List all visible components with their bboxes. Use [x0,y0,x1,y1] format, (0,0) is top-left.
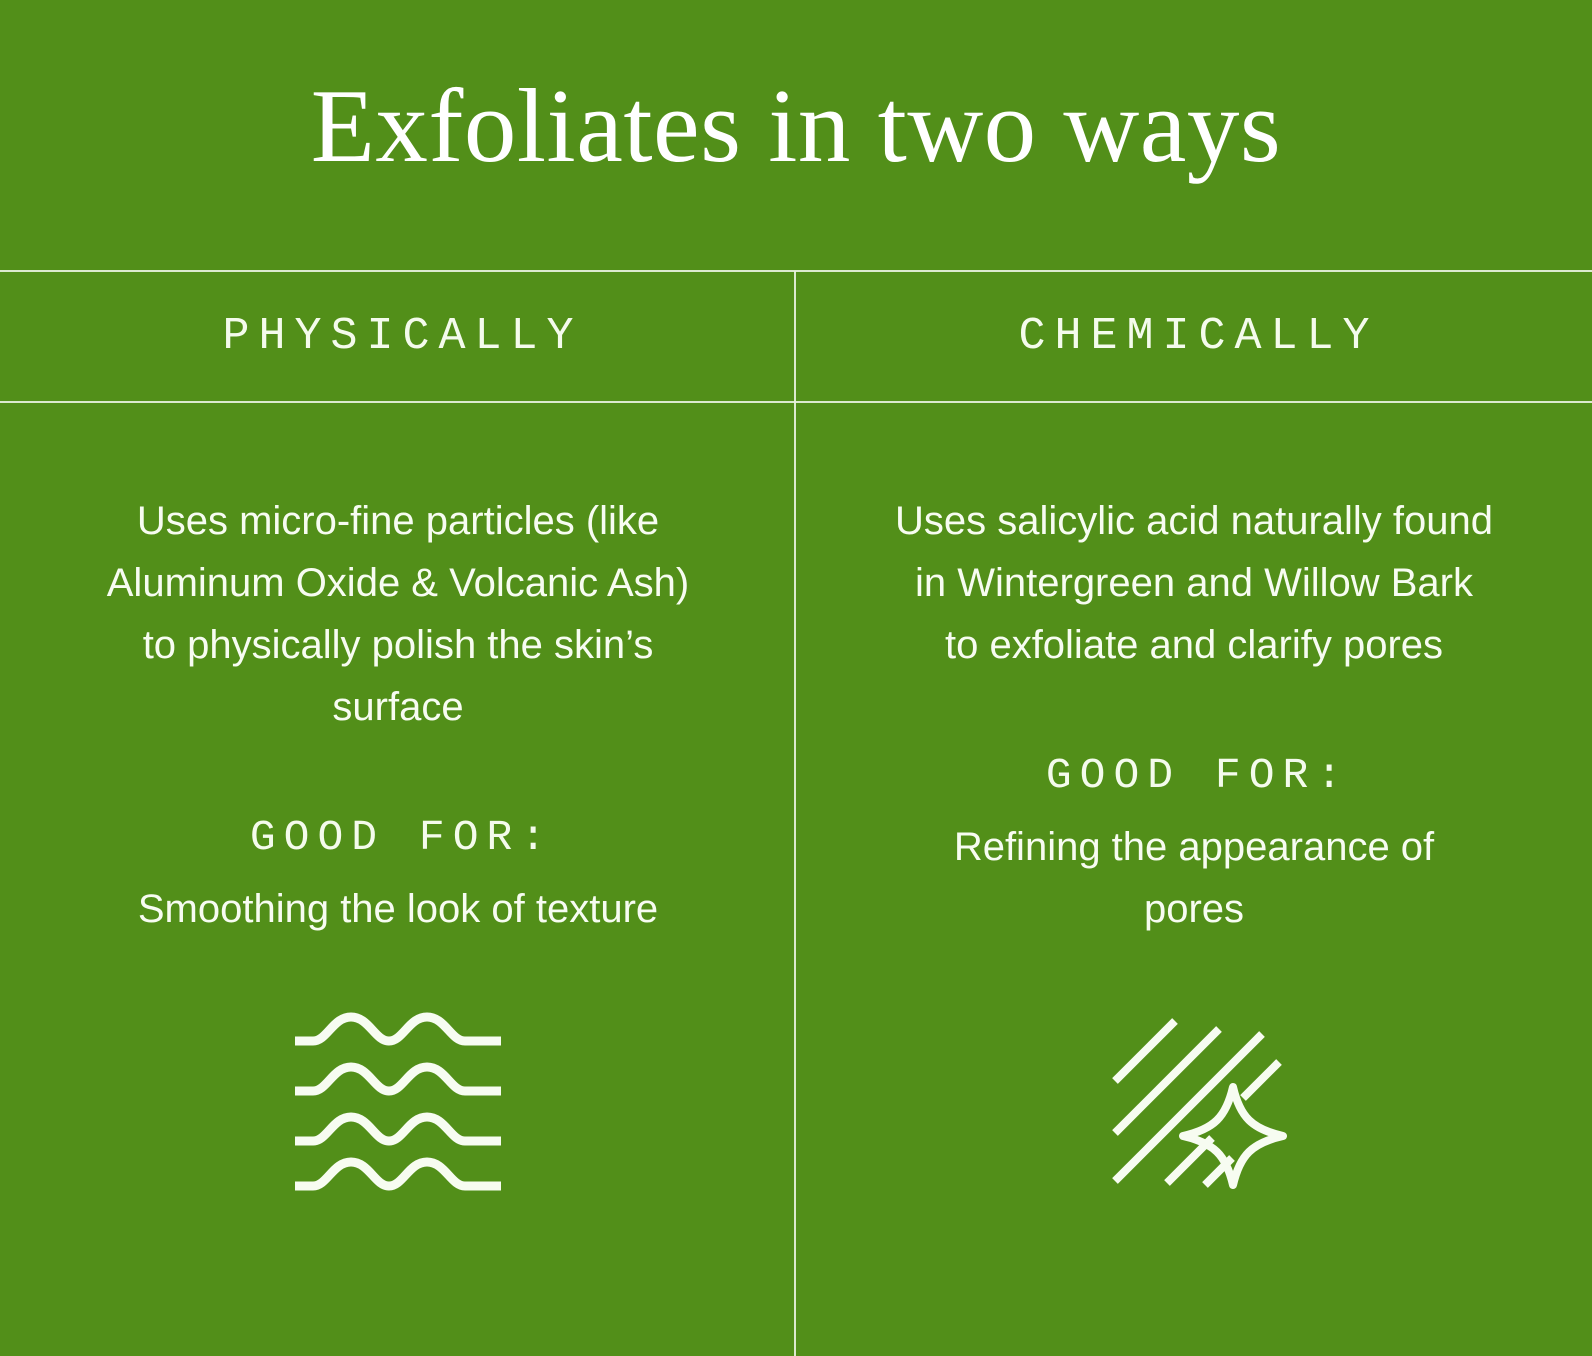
good-for-value-physically: Smoothing the look of texture [118,878,678,940]
wavy-lines-icon [283,1000,513,1200]
column-description-physically: Uses micro-fine particles (like Aluminum… [98,490,698,738]
column-heading-chemically: CHEMICALLY [1009,311,1378,362]
column-headings-row: PHYSICALLY CHEMICALLY [0,272,1592,401]
columns-container: Uses micro-fine particles (like Aluminum… [0,403,1592,1356]
good-for-label-physically: GOOD FOR: [242,813,554,862]
page-title: Exfoliates in two ways [311,71,1281,181]
column-heading-cell-physically: PHYSICALLY [0,272,796,401]
column-chemically: Uses salicylic acid naturally found in W… [796,403,1592,1356]
exfoliation-comparison-infographic: Exfoliates in two ways PHYSICALLY CHEMIC… [0,0,1592,1356]
column-heading-physically: PHYSICALLY [213,311,582,362]
column-heading-cell-chemically: CHEMICALLY [796,272,1592,401]
good-for-label-chemically: GOOD FOR: [1038,751,1350,800]
column-physically: Uses micro-fine particles (like Aluminum… [0,403,796,1356]
title-band: Exfoliates in two ways [0,0,1592,271]
sparkle-diagonal-lines-icon [1079,1000,1309,1200]
good-for-value-chemically: Refining the appearance of pores [914,816,1474,940]
column-description-chemically: Uses salicylic acid naturally found in W… [894,490,1494,676]
